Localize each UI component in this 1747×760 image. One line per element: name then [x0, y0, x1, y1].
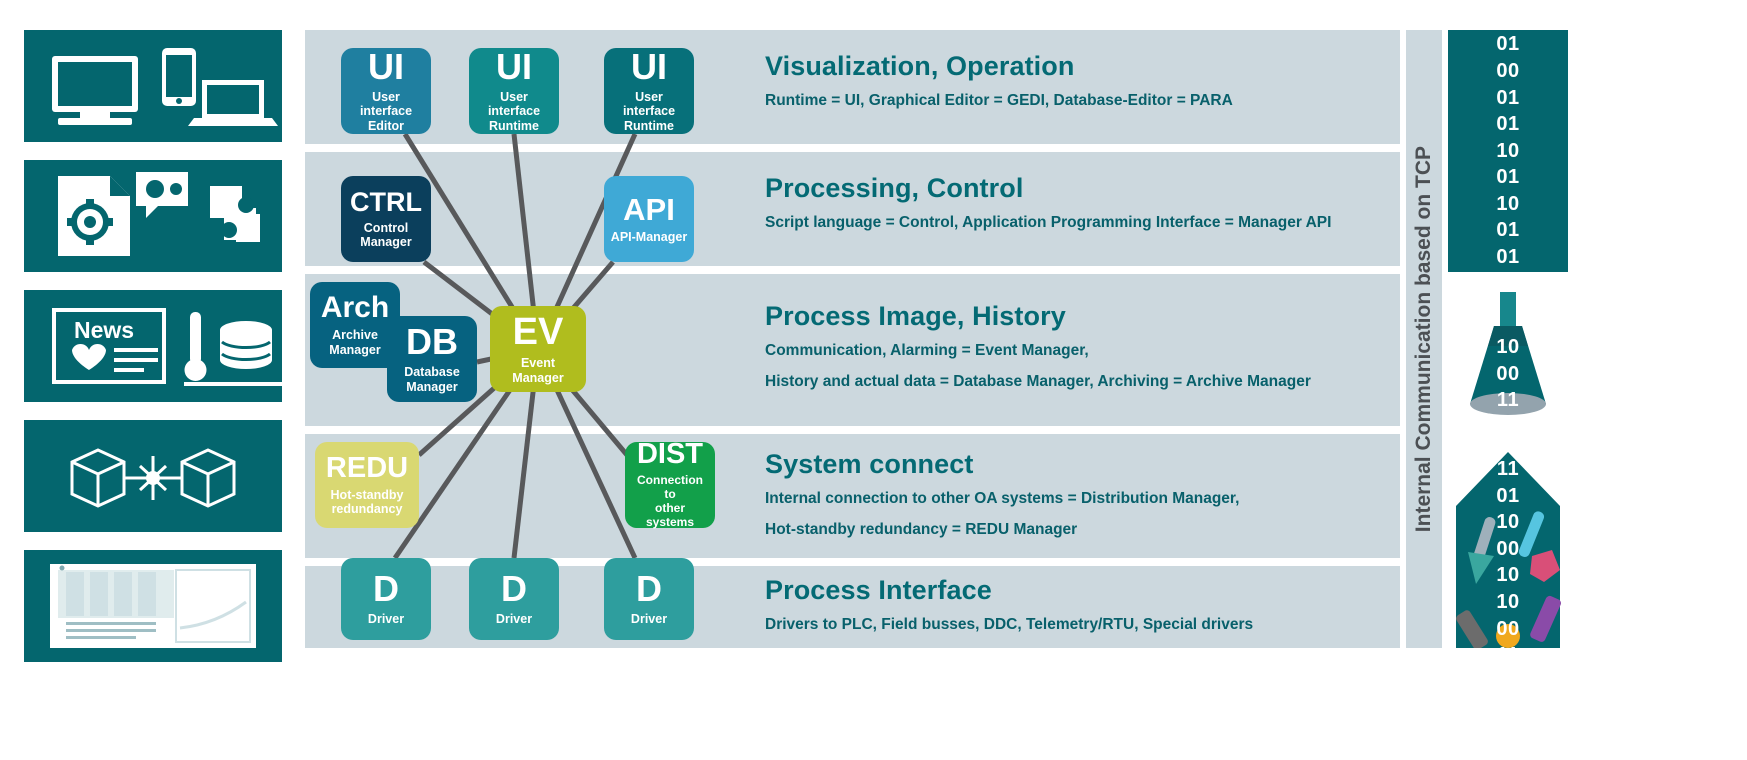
shape-bit-6: 00	[1496, 616, 1519, 643]
node-ctrl[interactable]: CTRLControlManager	[341, 176, 431, 262]
band-system-connect: System connect Internal connection to ot…	[305, 434, 1400, 558]
node-code: REDU	[326, 454, 408, 483]
binary-bit-4: 10	[1496, 138, 1519, 165]
binary-art-column: 010001011001100101 100011 110110001	[1448, 30, 1568, 648]
node-db[interactable]: DBDatabaseManager	[387, 316, 477, 402]
node-subtitle: Hot-standbyredundancy	[331, 488, 404, 517]
band-text-block: System connect Internal connection to ot…	[765, 450, 1239, 542]
node-subtitle: Connection toother systems	[631, 474, 709, 529]
svg-text:News: News	[74, 317, 134, 343]
funnel-bits: 100011	[1448, 334, 1568, 414]
band-title: Processing, Control	[765, 174, 1331, 204]
band-processing: Processing, Control Script language = Co…	[305, 152, 1400, 266]
band-subtitle-line-2: Hot-standby redundancy = REDU Manager	[765, 518, 1239, 542]
funnel-bit-2: 11	[1497, 387, 1519, 414]
node-driver-2[interactable]: DDriver	[469, 558, 559, 640]
shape-bit-0: 11	[1497, 456, 1519, 483]
node-code: UI	[496, 49, 532, 85]
band-title: Process Interface	[765, 576, 1253, 606]
node-subtitle: Driver	[368, 612, 404, 626]
band-subtitle-line-2: History and actual data = Database Manag…	[765, 370, 1311, 394]
left-icon-column: News	[24, 30, 282, 648]
node-subtitle: ArchiveManager	[329, 328, 380, 357]
node-code: D	[373, 571, 399, 607]
shape-bit-4: 10	[1496, 562, 1519, 589]
node-subtitle: User interfaceEditor	[347, 90, 425, 133]
binary-bit-1: 00	[1496, 58, 1519, 85]
band-subtitle-line-1: Communication, Alarming = Event Manager,	[765, 339, 1311, 363]
node-driver-3[interactable]: DDriver	[604, 558, 694, 640]
node-redu[interactable]: REDUHot-standbyredundancy	[315, 442, 419, 528]
binary-bit-3: 01	[1496, 111, 1519, 138]
band-subtitle: Script language = Control, Application P…	[765, 211, 1331, 235]
band-subtitle: Runtime = UI, Graphical Editor = GEDI, D…	[765, 89, 1233, 113]
node-ui-editor[interactable]: UIUser interfaceEditor	[341, 48, 431, 134]
binary-bit-5: 01	[1496, 164, 1519, 191]
plc-cabinet-icon	[24, 550, 282, 662]
band-subtitle-line-1: Internal connection to other OA systems …	[765, 487, 1239, 511]
node-subtitle: Event Manager	[496, 356, 580, 385]
node-code: CTRL	[350, 189, 422, 216]
band-title: System connect	[765, 450, 1239, 480]
node-ev[interactable]: EVEvent Manager	[490, 306, 586, 392]
binary-bit-6: 10	[1496, 191, 1519, 218]
funnel-bit-0: 10	[1496, 334, 1519, 361]
node-api[interactable]: APIAPI-Manager	[604, 176, 694, 262]
funnel-bit-1: 00	[1496, 361, 1519, 388]
band-text-block: Processing, Control Script language = Co…	[765, 174, 1331, 235]
node-subtitle: Driver	[496, 612, 532, 626]
node-code: DB	[406, 324, 458, 360]
node-subtitle: User interfaceRuntime	[610, 90, 688, 133]
news-sensors-icon: News	[24, 290, 282, 402]
architecture-diagram: News	[0, 0, 1747, 760]
shape-bit-8: 01	[1496, 669, 1519, 696]
node-subtitle: Driver	[631, 612, 667, 626]
node-subtitle: User interfaceRuntime	[475, 90, 553, 133]
devices-icon	[24, 30, 282, 142]
internal-communication-label: Internal Communication based on TCP	[1406, 30, 1442, 648]
node-subtitle: API-Manager	[611, 230, 687, 244]
shape-bit-2: 10	[1496, 509, 1519, 536]
node-subtitle: DatabaseManager	[404, 365, 460, 394]
node-ui-runtime-1[interactable]: UIUser interfaceRuntime	[469, 48, 559, 134]
node-code: API	[623, 194, 675, 225]
band-text-block: Process Interface Drivers to PLC, Field …	[765, 576, 1253, 637]
node-driver-1[interactable]: DDriver	[341, 558, 431, 640]
machine-parts-icon	[24, 420, 282, 532]
binary-bit-2: 01	[1496, 85, 1519, 112]
binary-bit-8: 01	[1496, 244, 1519, 271]
funnel-graphic: 100011	[1448, 292, 1568, 422]
binary-bit-7: 01	[1496, 217, 1519, 244]
band-text-block: Visualization, Operation Runtime = UI, G…	[765, 52, 1233, 113]
node-code: Arch	[321, 293, 389, 323]
shape-bit-7: 11	[1497, 642, 1519, 669]
binary-block: 010001011001100101	[1448, 30, 1568, 272]
band-subtitle: Drivers to PLC, Field busses, DDC, Telem…	[765, 613, 1253, 637]
shape-bit-3: 00	[1496, 536, 1519, 563]
binary-bit-0: 01	[1496, 31, 1519, 58]
node-code: EV	[513, 313, 564, 351]
node-code: DIST	[637, 440, 703, 469]
node-code: D	[501, 571, 527, 607]
node-code: UI	[631, 49, 667, 85]
vertical-label-text: Internal Communication based on TCP	[1412, 146, 1436, 532]
node-ui-runtime-2[interactable]: UIUser interfaceRuntime	[604, 48, 694, 134]
documents-gears-icon	[24, 160, 282, 272]
band-title: Process Image, History	[765, 302, 1311, 332]
band-text-block: Process Image, History Communication, Al…	[765, 302, 1311, 394]
shape-bit-5: 10	[1496, 589, 1519, 616]
shape-bit-1: 01	[1496, 483, 1519, 510]
shapes-graphic: 110110001010001101	[1448, 450, 1568, 648]
node-code: D	[636, 571, 662, 607]
band-title: Visualization, Operation	[765, 52, 1233, 82]
node-dist[interactable]: DISTConnection toother systems	[625, 442, 715, 528]
shapes-bits: 110110001010001101	[1448, 456, 1568, 695]
node-code: UI	[368, 49, 404, 85]
node-subtitle: ControlManager	[360, 221, 411, 250]
